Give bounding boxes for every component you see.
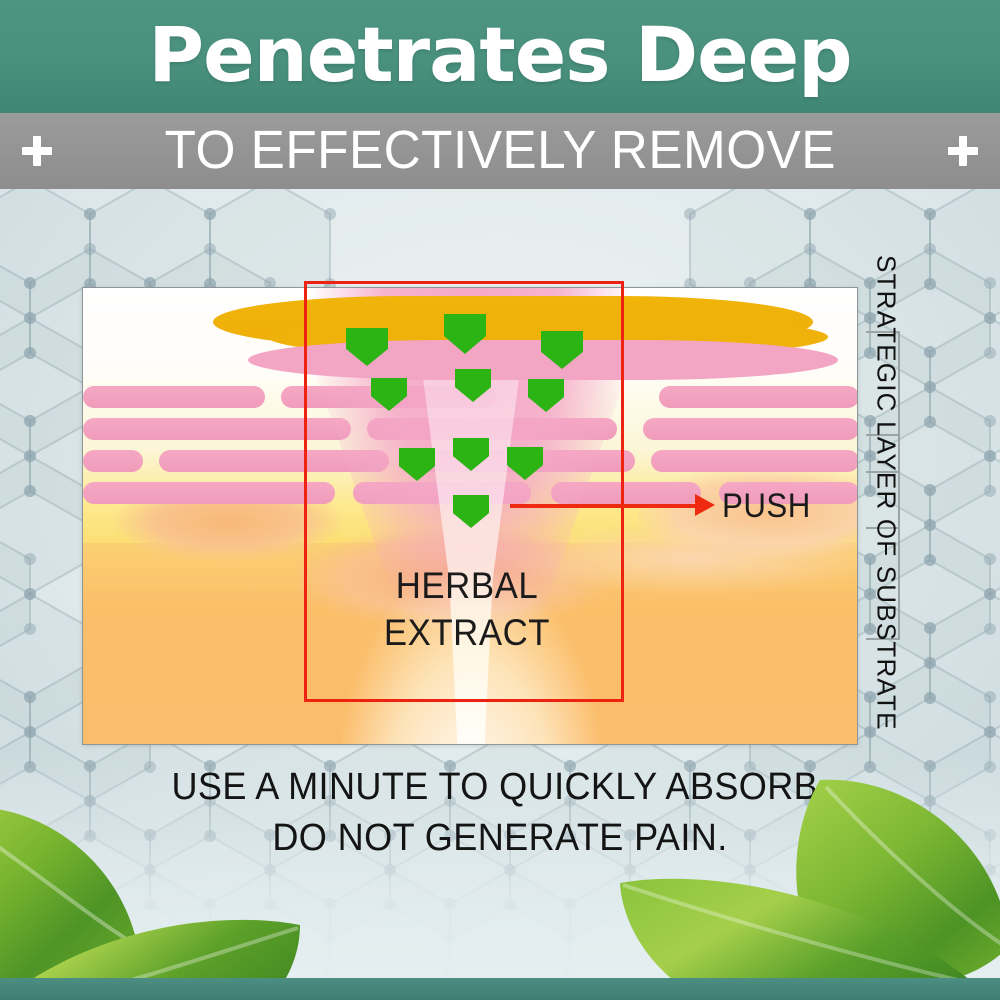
header-title-band: Penetrates Deep (0, 0, 1000, 113)
stratum-bar (83, 482, 335, 504)
push-label: PUSH (722, 487, 811, 526)
plus-icon-left (22, 136, 52, 166)
stratum-bar (643, 418, 858, 440)
page-title: Penetrates Deep (148, 17, 851, 93)
herbal-extract-line1: HERBAL (359, 562, 575, 609)
herbal-extract-label: HERBAL EXTRACT (359, 562, 575, 657)
stratum-bar (659, 386, 858, 408)
stratum-bar (651, 450, 858, 472)
herbal-extract-line2: EXTRACT (359, 609, 575, 656)
strategic-layer-label: STRATEGIC LAYER OF SUBSTRATE (871, 255, 902, 775)
teal-strip (0, 978, 1000, 1000)
push-arrow-line (510, 504, 700, 508)
header-subtitle-band: TO EFFECTIVELY REMOVE (0, 113, 1000, 189)
push-arrow-head (695, 494, 715, 516)
stratum-bar (83, 386, 265, 408)
plus-icon-right (948, 136, 978, 166)
page-subtitle: TO EFFECTIVELY REMOVE (164, 123, 835, 177)
infographic-canvas: PUSH HERBAL EXTRACT STRATEGIC LAYER OF S… (0, 0, 1000, 1000)
stratum-bar (83, 450, 143, 472)
